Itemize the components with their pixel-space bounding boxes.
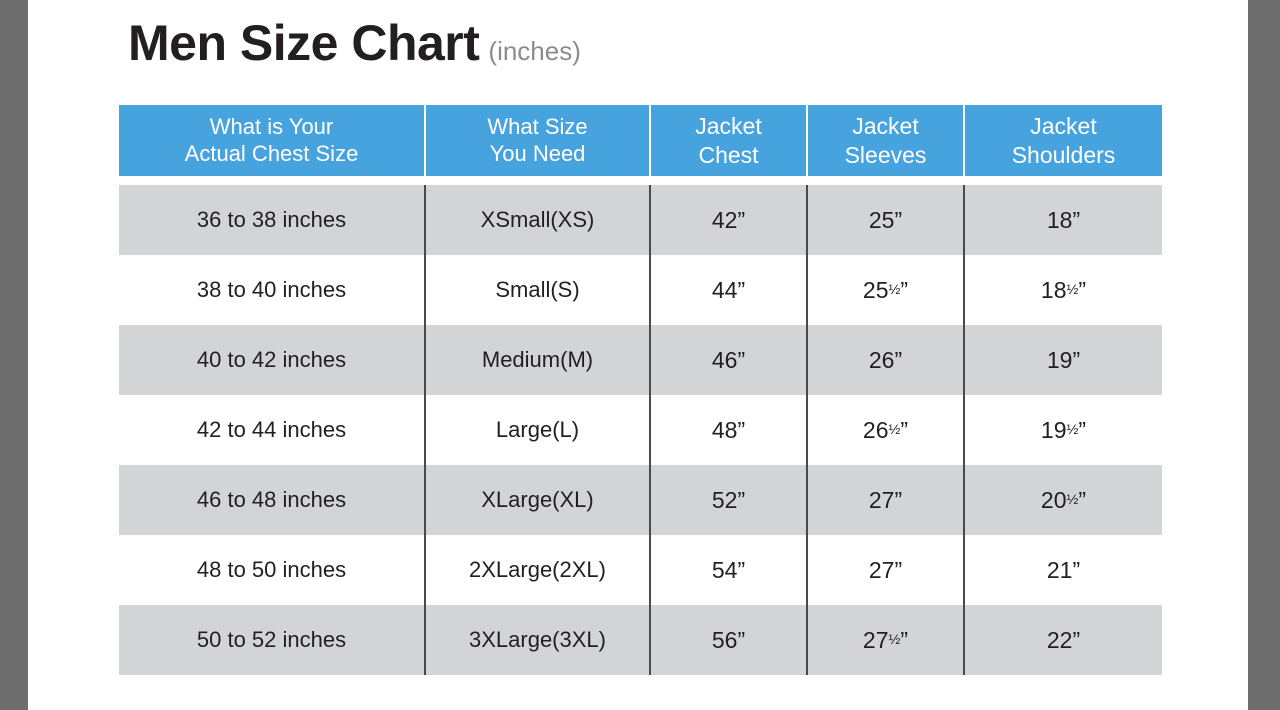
cell-jacket-sleeves: 25½” [808,255,965,325]
cell-jacket-chest: 52” [651,465,808,535]
cell-chest-range: 42 to 44 inches [119,395,426,465]
cell-jacket-chest: 54” [651,535,808,605]
column-header-size-you-need: What Size You Need [426,105,651,176]
page-canvas: Men Size Chart (inches) What is Your Act… [28,0,1248,710]
column-header-actual-chest-size: What is Your Actual Chest Size [119,105,426,176]
column-header-line2: Chest [698,141,758,169]
column-header-line2: You Need [490,141,586,168]
cell-chest-range: 36 to 38 inches [119,185,426,255]
cell-jacket-sleeves: 27” [808,465,965,535]
cell-size-name: XSmall(XS) [426,185,651,255]
letterbox-bar-left [0,0,28,710]
column-header-line1: What is Your [210,114,334,141]
cell-jacket-shoulders: 21” [965,535,1162,605]
cell-size-name: XLarge(XL) [426,465,651,535]
column-header-line1: Jacket [852,112,918,140]
header-body-gap [119,176,1162,185]
table-row: 40 to 42 inchesMedium(M)46”26”19” [119,325,1162,395]
page-title-unit-note: (inches) [488,38,580,64]
table-body: 36 to 38 inchesXSmall(XS)42”25”18”38 to … [119,185,1162,675]
cell-chest-range: 50 to 52 inches [119,605,426,675]
size-chart-table: What is Your Actual Chest Size What Size… [119,105,1162,675]
cell-jacket-shoulders: 19” [965,325,1162,395]
cell-jacket-sleeves: 27” [808,535,965,605]
table-row: 50 to 52 inches3XLarge(3XL)56”27½”22” [119,605,1162,675]
column-header-jacket-chest: Jacket Chest [651,105,808,176]
cell-chest-range: 48 to 50 inches [119,535,426,605]
cell-size-name: 3XLarge(3XL) [426,605,651,675]
cell-jacket-chest: 56” [651,605,808,675]
table-row: 38 to 40 inchesSmall(S)44”25½”18½” [119,255,1162,325]
column-header-line1: What Size [487,114,587,141]
table-row: 48 to 50 inches2XLarge(2XL)54”27”21” [119,535,1162,605]
cell-jacket-shoulders: 18½” [965,255,1162,325]
cell-chest-range: 40 to 42 inches [119,325,426,395]
cell-jacket-shoulders: 22” [965,605,1162,675]
cell-jacket-sleeves: 26” [808,325,965,395]
cell-jacket-sleeves: 26½” [808,395,965,465]
table-row: 46 to 48 inchesXLarge(XL)52”27”20½” [119,465,1162,535]
cell-jacket-chest: 46” [651,325,808,395]
column-header-line2: Shoulders [1012,141,1116,169]
cell-jacket-chest: 42” [651,185,808,255]
page-title: Men Size Chart (inches) [128,18,581,68]
cell-jacket-shoulders: 20½” [965,465,1162,535]
letterbox-bar-right [1248,0,1280,710]
cell-jacket-chest: 44” [651,255,808,325]
cell-size-name: Small(S) [426,255,651,325]
column-header-jacket-shoulders: Jacket Shoulders [965,105,1162,176]
column-header-line1: Jacket [1030,112,1096,140]
column-header-line2: Sleeves [845,141,927,169]
table-row: 36 to 38 inchesXSmall(XS)42”25”18” [119,185,1162,255]
cell-jacket-shoulders: 19½” [965,395,1162,465]
cell-size-name: 2XLarge(2XL) [426,535,651,605]
table-row: 42 to 44 inchesLarge(L)48”26½”19½” [119,395,1162,465]
cell-jacket-shoulders: 18” [965,185,1162,255]
cell-chest-range: 38 to 40 inches [119,255,426,325]
cell-size-name: Medium(M) [426,325,651,395]
cell-jacket-sleeves: 25” [808,185,965,255]
column-header-line2: Actual Chest Size [185,141,359,168]
column-header-jacket-sleeves: Jacket Sleeves [808,105,965,176]
cell-chest-range: 46 to 48 inches [119,465,426,535]
page-title-main: Men Size Chart [128,18,479,68]
table-header-row: What is Your Actual Chest Size What Size… [119,105,1162,176]
column-header-line1: Jacket [695,112,761,140]
cell-size-name: Large(L) [426,395,651,465]
cell-jacket-chest: 48” [651,395,808,465]
cell-jacket-sleeves: 27½” [808,605,965,675]
